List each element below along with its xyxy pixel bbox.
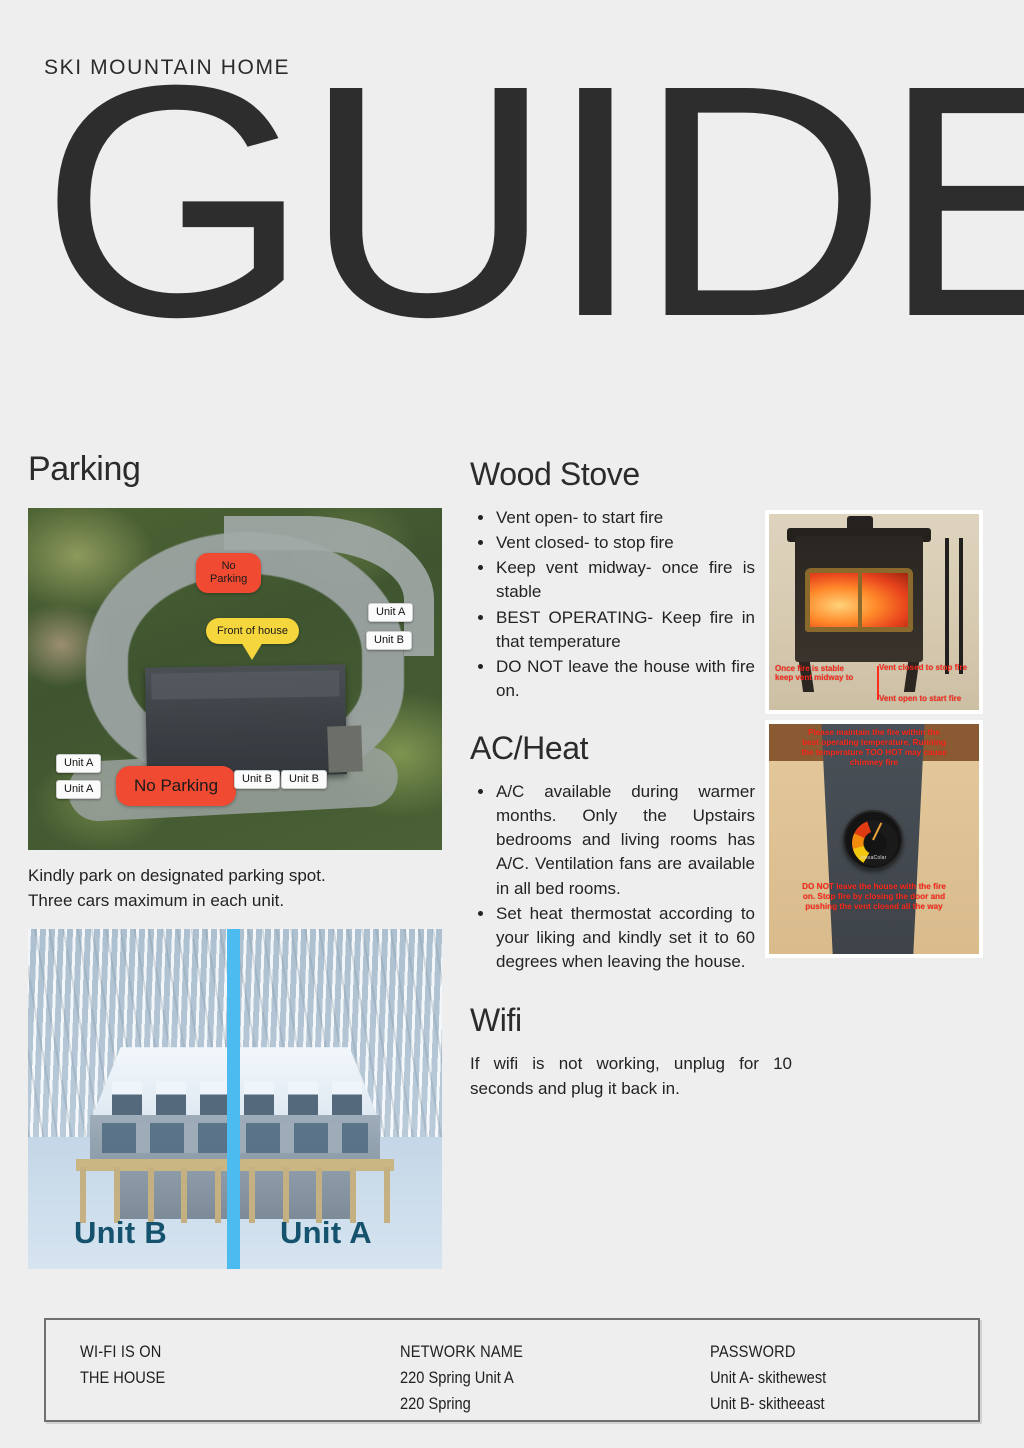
- page-title: GUIDE: [40, 72, 1024, 329]
- wifi-location-line1: WI-FI IS ON: [80, 1342, 355, 1362]
- parking-heading: Parking: [28, 452, 442, 486]
- stove-annotation-left: Once fire is stable keep vent midway to: [775, 664, 853, 682]
- dormer-6: [332, 1081, 362, 1115]
- deck-post-6: [249, 1167, 255, 1223]
- wood-stove-photo: Once fire is stable keep vent midway to …: [769, 514, 979, 710]
- wifi-info-grid: WI-FI IS ON THE HOUSE NETWORK NAME 220 S…: [80, 1342, 958, 1414]
- label-no-parking-bottom: No Parking: [116, 766, 236, 806]
- ac-heat-heading: AC/Heat: [470, 732, 755, 764]
- parking-caption-line1: Kindly park on designated parking spot.: [28, 864, 442, 889]
- dormer-2: [156, 1081, 186, 1115]
- wifi-heading: Wifi: [470, 1004, 755, 1036]
- deck-post-10: [384, 1167, 390, 1223]
- password-header: PASSWORD: [710, 1342, 923, 1362]
- password-value-2: Unit B- skitheeast: [710, 1394, 923, 1414]
- parking-column: Parking No Parking Front of house Unit A…: [28, 452, 442, 1269]
- wifi-body: If wifi is not working, unplug for 10 se…: [470, 1052, 792, 1101]
- stove-annotation-vent-closed: Vent closed to stop fire: [879, 663, 967, 672]
- unit-divider-line: [227, 929, 240, 1269]
- wifi-info-box: WI-FI IS ON THE HOUSE NETWORK NAME 220 S…: [44, 1318, 980, 1422]
- stove-fire-glass: [805, 568, 913, 632]
- label-unit-b-right: Unit B: [366, 631, 412, 650]
- aerial-parking-photo: No Parking Front of house Unit A Unit B …: [28, 508, 442, 850]
- house-roof-shape: [145, 664, 347, 777]
- wood-stove-heading: Wood Stove: [470, 458, 755, 490]
- dormer-3: [200, 1081, 230, 1115]
- list-item: Keep vent midway- once fire is stable: [496, 556, 755, 604]
- stove-annotation-vent-open: Vent open to start fire: [879, 694, 961, 703]
- stove-annotation-left-line1: Once fire is stable: [775, 664, 844, 673]
- parking-caption: Kindly park on designated parking spot. …: [28, 864, 442, 913]
- wifi-location-column: WI-FI IS ON THE HOUSE: [80, 1342, 400, 1414]
- list-item: DO NOT leave the house with fire on.: [496, 655, 755, 703]
- wifi-location-line2: THE HOUSE: [80, 1368, 355, 1388]
- label-front-of-house: Front of house: [206, 618, 299, 644]
- winter-label-unit-b: Unit B: [74, 1215, 167, 1251]
- label-unit-a-right: Unit A: [368, 603, 413, 622]
- label-no-parking-top: No Parking: [196, 553, 261, 593]
- instructions-column: Wood Stove Vent open- to start fire Vent…: [470, 458, 755, 1101]
- password-value-1: Unit A- skithewest: [710, 1368, 923, 1388]
- network-name-value-1: 220 Spring Unit A: [400, 1368, 667, 1388]
- list-item: A/C available during warmer months. Only…: [496, 780, 755, 901]
- list-item: Set heat thermostat according to your li…: [496, 902, 755, 974]
- parking-caption-line2: Three cars maximum in each unit.: [28, 889, 442, 914]
- winter-house-photo: Unit B Unit A: [28, 929, 442, 1269]
- dormer-4: [244, 1081, 274, 1115]
- stove-photos-column: Once fire is stable keep vent midway to …: [765, 510, 983, 958]
- thermostat-annotation-bottom: DO NOT leave the house with the fire on.…: [799, 882, 949, 912]
- gauge-brand-label: JossaColar: [845, 855, 901, 861]
- list-item: Vent closed- to stop fire: [496, 531, 755, 555]
- ac-heat-list: A/C available during warmer months. Only…: [470, 780, 755, 974]
- network-name-column: NETWORK NAME 220 Spring Unit A 220 Sprin…: [400, 1342, 710, 1414]
- thermostat-annotation-top: Please maintain the fire within the best…: [799, 728, 949, 767]
- network-name-value-2: 220 Spring: [400, 1394, 667, 1414]
- network-name-header: NETWORK NAME: [400, 1342, 667, 1362]
- password-column: PASSWORD Unit A- skithewest Unit B- skit…: [710, 1342, 958, 1414]
- winter-label-unit-a: Unit A: [280, 1215, 372, 1251]
- section-spacer: [470, 704, 755, 732]
- label-no-parking-top-line1: No: [222, 560, 236, 572]
- label-no-parking-top-line2: Parking: [210, 573, 247, 585]
- thermostat-photo-frame: Please maintain the fire within the best…: [765, 720, 983, 958]
- wood-stove-list: Vent open- to start fire Vent closed- to…: [470, 506, 755, 703]
- guide-page: SKI MOUNTAIN HOME GUIDE Parking No Parki…: [0, 0, 1024, 1448]
- label-unit-b-bottom-2: Unit B: [281, 770, 327, 789]
- stove-photo-frame: Once fire is stable keep vent midway to …: [765, 510, 983, 714]
- label-unit-b-bottom-1: Unit B: [234, 770, 280, 789]
- dormer-1: [112, 1081, 142, 1115]
- deck-post-5: [215, 1167, 221, 1223]
- list-item: BEST OPERATING- Keep fire in that temper…: [496, 606, 755, 654]
- stove-thermometer-gauge: JossaColar: [843, 810, 903, 870]
- stove-annotation-left-line2: keep vent midway to: [775, 673, 853, 682]
- stove-thermometer-photo: Please maintain the fire within the best…: [769, 724, 979, 954]
- house-extension-shape: [327, 725, 363, 772]
- fireplace-tool-rack: [937, 538, 971, 674]
- list-item: Vent open- to start fire: [496, 506, 755, 530]
- deck-post-4: [181, 1167, 187, 1223]
- label-unit-a-left-2: Unit A: [56, 780, 101, 799]
- dormer-5: [288, 1081, 318, 1115]
- stove-body-shape: [795, 536, 923, 662]
- label-unit-a-left-1: Unit A: [56, 754, 101, 773]
